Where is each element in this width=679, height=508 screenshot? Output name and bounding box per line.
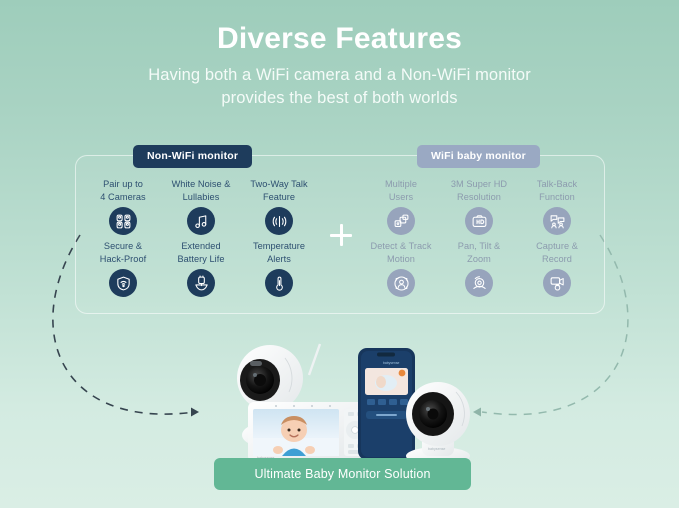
non-wifi-feature-5[interactable]: ExtendedBattery Life [162,240,240,297]
motion-detect-icon-circle [387,269,415,297]
hd-camera-icon [471,213,488,230]
camera-antenna [309,344,320,375]
subtitle-line-2: provides the best of both worlds [0,87,679,110]
wifi-feature-label: Pan, Tilt &Zoom [458,240,500,266]
subtitle-line-1: Having both a WiFi camera and a Non-WiFi… [0,64,679,87]
product-photo: babysense babysense babysense [190,330,490,465]
talk-back-icon-circle [543,207,571,235]
svg-text:babysense: babysense [428,447,445,451]
wifi-feature-label: Capture &Record [536,240,578,266]
non-wifi-feature-label: ExtendedBattery Life [177,240,224,266]
secondary-camera-unit: babysense [406,382,470,465]
non-wifi-feature-label: White Noise &Lullabies [172,178,231,204]
svg-text:babysense: babysense [383,361,400,365]
non-wifi-feature-column: Pair up to4 CamerasWhite Noise &Lullabie… [84,178,318,303]
page-title: Diverse Features [0,22,679,55]
two-way-talk-icon-circle [265,207,293,235]
wifi-feature-column: MultipleUsers3M Super HDResolutionTalk-B… [362,178,596,303]
non-wifi-feature-3[interactable]: Two-Way TalkFeature [240,178,318,235]
battery-plug-icon-circle [187,269,215,297]
non-wifi-feature-label: Secure &Hack-Proof [100,240,146,266]
wifi-feature-grid: MultipleUsers3M Super HDResolutionTalk-B… [362,178,596,297]
wifi-feature-label: MultipleUsers [385,178,417,204]
capture-record-icon-circle [543,269,571,297]
non-wifi-feature-label: TemperatureAlerts [253,240,305,266]
two-way-talk-icon [271,213,288,230]
wifi-feature-3[interactable]: Talk-BackFunction [518,178,596,235]
badge-non-wifi-monitor: Non-WiFi monitor [133,145,252,168]
parent-monitor-unit: babysense [248,402,370,462]
thermometer-icon-circle [265,269,293,297]
non-wifi-feature-6[interactable]: TemperatureAlerts [240,240,318,297]
multiple-users-icon-circle [387,207,415,235]
wifi-feature-5[interactable]: Pan, Tilt &Zoom [440,240,518,297]
non-wifi-feature-label: Two-Way TalkFeature [250,178,307,204]
pan-tilt-zoom-icon [471,275,488,292]
non-wifi-feature-1[interactable]: Pair up to4 Cameras [84,178,162,235]
wifi-feature-4[interactable]: Detect & TrackMotion [362,240,440,297]
badge-wifi-baby-monitor: WiFi baby monitor [417,145,540,168]
hd-camera-icon-circle [465,207,493,235]
music-notes-icon [193,213,210,230]
cta-button[interactable]: Ultimate Baby Monitor Solution [214,458,471,490]
battery-plug-icon [193,275,210,292]
wifi-feature-1[interactable]: MultipleUsers [362,178,440,235]
plus-separator-icon [330,224,352,246]
non-wifi-feature-4[interactable]: Secure &Hack-Proof [84,240,162,297]
wifi-feature-2[interactable]: 3M Super HDResolution [440,178,518,235]
shield-wifi-icon [115,275,132,292]
non-wifi-feature-label: Pair up to4 Cameras [100,178,145,204]
wifi-feature-label: 3M Super HDResolution [451,178,507,204]
wifi-feature-label: Talk-BackFunction [537,178,577,204]
shield-wifi-icon-circle [109,269,137,297]
non-wifi-feature-2[interactable]: White Noise &Lullabies [162,178,240,235]
page-header: Diverse Features Having both a WiFi came… [0,0,679,111]
smartphone-app: babysense [358,348,415,460]
capture-record-icon [549,275,566,292]
wifi-feature-6[interactable]: Capture &Record [518,240,596,297]
multiple-users-icon [393,213,410,230]
page-subtitle: Having both a WiFi camera and a Non-WiFi… [0,64,679,111]
talk-back-icon [549,213,566,230]
thermometer-icon [271,275,288,292]
motion-detect-icon [393,275,410,292]
pan-tilt-zoom-icon-circle [465,269,493,297]
four-cameras-icon [115,213,132,230]
music-notes-icon-circle [187,207,215,235]
non-wifi-feature-grid: Pair up to4 CamerasWhite Noise &Lullabie… [84,178,318,297]
wifi-feature-label: Detect & TrackMotion [371,240,432,266]
four-cameras-icon-circle [109,207,137,235]
